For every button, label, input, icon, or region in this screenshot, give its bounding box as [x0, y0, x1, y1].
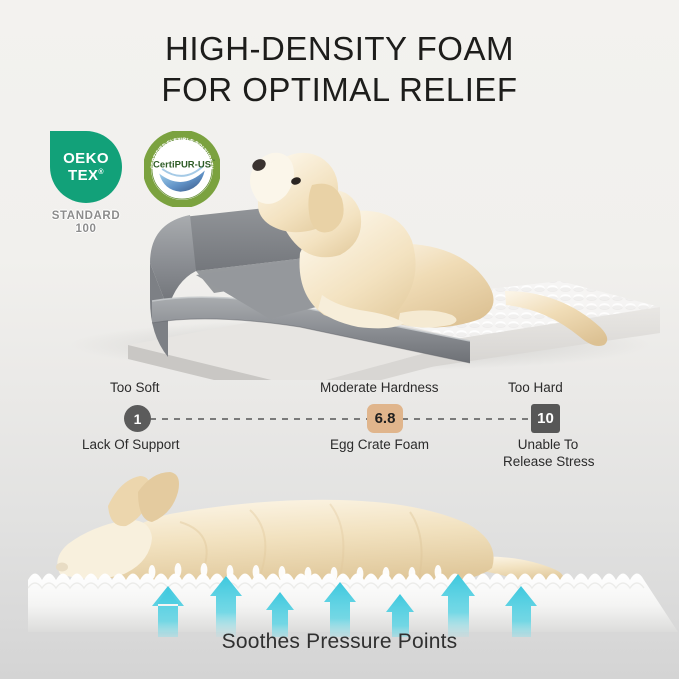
scale-marker-1: 1: [124, 405, 151, 432]
pressure-relief-illustration: [0, 462, 679, 637]
scale-right-top-label: Too Hard: [508, 380, 563, 395]
scale-left-bottom-label: Lack Of Support: [82, 436, 180, 453]
oeko-standard-word: STANDARD: [52, 210, 120, 222]
oeko-tex-mark: OEKO TEX®: [50, 131, 122, 203]
certipur-trademark: ™: [212, 159, 215, 163]
scale-marker-68: 6.8: [367, 404, 403, 433]
scale-left-top-label: Too Soft: [110, 380, 160, 395]
scale-right-bottom-line-1: Unable To: [518, 437, 579, 452]
bottom-caption: Soothes Pressure Points: [0, 630, 679, 654]
scale-dotted-line: [150, 418, 530, 420]
oeko-standard-number: 100: [76, 223, 97, 235]
scale-marker-10: 10: [531, 404, 560, 433]
scale-middle-top-label: Moderate Hardness: [320, 380, 439, 395]
marketing-image: HIGH-DENSITY FOAM FOR OPTIMAL RELIEF: [0, 0, 679, 679]
lower-foam-slab: [28, 574, 678, 633]
oeko-tex-line-2: TEX®: [68, 168, 104, 183]
oeko-tex-standard-text: STANDARD 100: [44, 210, 128, 236]
certipur-us-badge: CONTAINS CERTIFIED FLEXIBLE POLYURETHANE…: [144, 131, 220, 207]
headline-line-1: HIGH-DENSITY FOAM: [0, 28, 679, 69]
oeko-tex-badge: OEKO TEX® STANDARD 100: [44, 131, 128, 236]
hardness-scale: Too Soft 1 Lack Of Support Moderate Hard…: [0, 380, 679, 470]
certipur-wordmark: CertiPUR-US: [153, 159, 211, 170]
oeko-tex-line-1: OEKO: [63, 151, 109, 166]
scale-middle-bottom-label: Egg Crate Foam: [330, 436, 429, 453]
